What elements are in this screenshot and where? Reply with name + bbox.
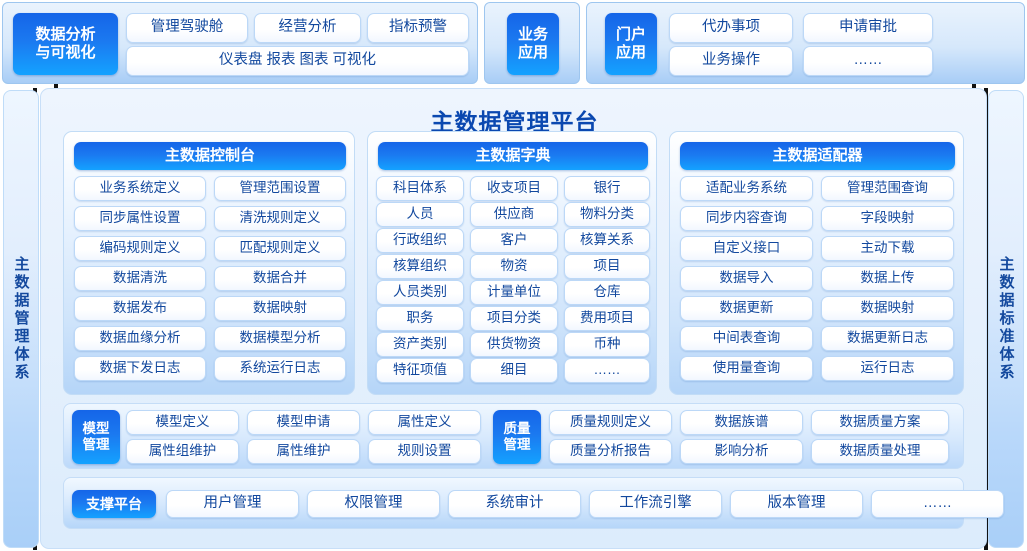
dict-item-bank[interactable]: 银行 xyxy=(564,176,650,201)
model-item-attribute-maintenance[interactable]: 属性维护 xyxy=(247,439,360,464)
adapter-item-data-update-log[interactable]: 数据更新日志 xyxy=(821,326,954,351)
top-button-pending-items[interactable]: 代办事项 xyxy=(669,13,793,43)
adapter-item-custom-interface[interactable]: 自定义接口 xyxy=(680,236,813,261)
console-item-data-cleansing[interactable]: 数据清洗 xyxy=(74,266,206,291)
top-button-more[interactable]: …… xyxy=(803,46,933,76)
console-item-coding-rule-definition[interactable]: 编码规则定义 xyxy=(74,236,206,261)
adapter-item-operation-log[interactable]: 运行日志 xyxy=(821,356,954,381)
support-item-more[interactable]: …… xyxy=(871,490,1004,518)
dict-item-admin-organization[interactable]: 行政组织 xyxy=(376,228,464,253)
dict-item-expense-item[interactable]: 费用项目 xyxy=(564,306,650,331)
architecture-diagram: 数据分析 与可视化 管理驾驶舱 经营分析 指标预警 仪表盘 报表 图表 可视化 … xyxy=(0,0,1027,551)
adapter-item-management-scope-query[interactable]: 管理范围查询 xyxy=(821,176,954,201)
dict-item-supply-material[interactable]: 供货物资 xyxy=(470,332,558,357)
dict-item-accounting-organization[interactable]: 核算组织 xyxy=(376,254,464,279)
dict-item-more[interactable]: …… xyxy=(564,358,650,383)
support-item-version-management[interactable]: 版本管理 xyxy=(730,490,863,518)
support-platform-row: 支撑平台 用户管理 权限管理 系统审计 工作流引擎 版本管理 …… xyxy=(63,477,964,529)
adapter-item-data-import[interactable]: 数据导入 xyxy=(680,266,813,291)
top-button-business-operation[interactable]: 业务操作 xyxy=(669,46,793,76)
panel-master-data-adapter: 主数据适配器 适配业务系统 同步内容查询 自定义接口 数据导入 数据更新 中间表… xyxy=(669,131,964,395)
adapter-item-data-update[interactable]: 数据更新 xyxy=(680,296,813,321)
console-item-management-scope-setting[interactable]: 管理范围设置 xyxy=(214,176,346,201)
panel-master-data-console: 主数据控制台 业务系统定义 同步属性设置 编码规则定义 数据清洗 数据发布 数据… xyxy=(63,131,355,395)
master-data-platform-frame: 主数据管理平台 主数据控制台 业务系统定义 同步属性设置 编码规则定义 数据清洗… xyxy=(40,88,987,549)
console-item-matching-rule-definition[interactable]: 匹配规则定义 xyxy=(214,236,346,261)
top-button-management-cockpit[interactable]: 管理驾驶舱 xyxy=(126,13,248,43)
group-label-quality-management: 质量 管理 xyxy=(493,410,541,464)
dict-item-supplier[interactable]: 供应商 xyxy=(470,202,558,227)
dict-item-currency[interactable]: 币种 xyxy=(564,332,650,357)
dict-item-feature-value[interactable]: 特征项值 xyxy=(376,358,464,383)
sidebar-left-label: 主数据管理体系 xyxy=(14,256,29,382)
dict-item-position[interactable]: 职务 xyxy=(376,306,464,331)
console-item-business-system-definition[interactable]: 业务系统定义 xyxy=(74,176,206,201)
console-item-data-distribution-log[interactable]: 数据下发日志 xyxy=(74,356,206,381)
console-item-data-publish[interactable]: 数据发布 xyxy=(74,296,206,321)
console-item-cleansing-rule-definition[interactable]: 清洗规则定义 xyxy=(214,206,346,231)
dict-item-material[interactable]: 物资 xyxy=(470,254,558,279)
adapter-item-usage-query[interactable]: 使用量查询 xyxy=(680,356,813,381)
top-group-portal-application: 门户 应用 代办事项 申请审批 业务操作 …… xyxy=(586,2,1025,84)
top-group-label-portal-application: 门户 应用 xyxy=(605,13,657,75)
adapter-item-intermediate-table-query[interactable]: 中间表查询 xyxy=(680,326,813,351)
quality-item-quality-analysis-report[interactable]: 质量分析报告 xyxy=(549,439,672,464)
adapter-item-adapt-business-system[interactable]: 适配业务系统 xyxy=(680,176,813,201)
model-item-rule-setting[interactable]: 规则设置 xyxy=(368,439,481,464)
dict-item-measurement-unit[interactable]: 计量单位 xyxy=(470,280,558,305)
support-item-workflow-engine[interactable]: 工作流引擎 xyxy=(589,490,722,518)
dict-item-personnel-category[interactable]: 人员类别 xyxy=(376,280,464,305)
support-item-user-management[interactable]: 用户管理 xyxy=(166,490,299,518)
sidebar-right-label: 主数据标准体系 xyxy=(999,256,1014,382)
adapter-item-active-download[interactable]: 主动下载 xyxy=(821,236,954,261)
dict-item-project-category[interactable]: 项目分类 xyxy=(470,306,558,331)
console-item-data-merge[interactable]: 数据合并 xyxy=(214,266,346,291)
console-item-data-model-analysis[interactable]: 数据模型分析 xyxy=(214,326,346,351)
console-item-data-mapping[interactable]: 数据映射 xyxy=(214,296,346,321)
dict-item-project[interactable]: 项目 xyxy=(564,254,650,279)
dict-item-detail-item[interactable]: 细目 xyxy=(470,358,558,383)
quality-item-data-quality-processing[interactable]: 数据质量处理 xyxy=(811,439,949,464)
dict-item-accounting-relation[interactable]: 核算关系 xyxy=(564,228,650,253)
top-button-business-analysis[interactable]: 经营分析 xyxy=(254,13,361,43)
model-item-attribute-group-maintenance[interactable]: 属性组维护 xyxy=(126,439,239,464)
adapter-item-field-mapping[interactable]: 字段映射 xyxy=(821,206,954,231)
panel-header-console: 主数据控制台 xyxy=(74,142,346,170)
quality-item-quality-rule-definition[interactable]: 质量规则定义 xyxy=(549,410,672,435)
dict-item-warehouse[interactable]: 仓库 xyxy=(564,280,650,305)
model-and-quality-row: 模型 管理 模型定义 模型申请 属性定义 属性组维护 属性维护 规则设置 质量 … xyxy=(63,403,964,469)
adapter-item-sync-content-query[interactable]: 同步内容查询 xyxy=(680,206,813,231)
sidebar-master-data-standard-system: 主数据标准体系 xyxy=(988,90,1024,548)
top-button-application-approval[interactable]: 申请审批 xyxy=(803,13,933,43)
adapter-item-data-upload[interactable]: 数据上传 xyxy=(821,266,954,291)
model-item-model-application[interactable]: 模型申请 xyxy=(247,410,360,435)
group-label-model-management: 模型 管理 xyxy=(72,410,120,464)
model-item-attribute-definition[interactable]: 属性定义 xyxy=(368,410,481,435)
sidebar-master-data-management-system: 主数据管理体系 xyxy=(3,90,39,548)
group-label-support-platform: 支撑平台 xyxy=(72,490,156,518)
panel-header-adapter: 主数据适配器 xyxy=(680,142,955,170)
dict-item-income-expense-item[interactable]: 收支项目 xyxy=(470,176,558,201)
panel-master-data-dictionary: 主数据字典 科目体系 人员 行政组织 核算组织 人员类别 职务 资产类别 特征项… xyxy=(367,131,657,395)
console-item-sync-attribute-setting[interactable]: 同步属性设置 xyxy=(74,206,206,231)
console-item-data-lineage-analysis[interactable]: 数据血缘分析 xyxy=(74,326,206,351)
top-button-dashboard-report-chart-visualization[interactable]: 仪表盘 报表 图表 可视化 xyxy=(126,46,469,76)
dict-item-personnel[interactable]: 人员 xyxy=(376,202,464,227)
top-group-label-business-application: 业务 应用 xyxy=(507,13,559,75)
support-item-permission-management[interactable]: 权限管理 xyxy=(307,490,440,518)
dict-item-customer[interactable]: 客户 xyxy=(470,228,558,253)
console-item-system-operation-log[interactable]: 系统运行日志 xyxy=(214,356,346,381)
quality-item-data-quality-plan[interactable]: 数据质量方案 xyxy=(811,410,949,435)
quality-item-impact-analysis[interactable]: 影响分析 xyxy=(680,439,803,464)
dict-item-account-system[interactable]: 科目体系 xyxy=(376,176,464,201)
dict-item-material-category[interactable]: 物料分类 xyxy=(564,202,650,227)
support-item-system-audit[interactable]: 系统审计 xyxy=(448,490,581,518)
dict-item-asset-category[interactable]: 资产类别 xyxy=(376,332,464,357)
top-group-business-application: 业务 应用 xyxy=(484,2,580,84)
top-button-indicator-alert[interactable]: 指标预警 xyxy=(367,13,469,43)
quality-item-data-genealogy[interactable]: 数据族谱 xyxy=(680,410,803,435)
panel-header-dictionary: 主数据字典 xyxy=(378,142,648,170)
top-group-data-analysis: 数据分析 与可视化 管理驾驶舱 经营分析 指标预警 仪表盘 报表 图表 可视化 xyxy=(2,2,478,84)
top-group-label-data-analysis: 数据分析 与可视化 xyxy=(13,13,118,75)
model-item-model-definition[interactable]: 模型定义 xyxy=(126,410,239,435)
adapter-item-data-mapping[interactable]: 数据映射 xyxy=(821,296,954,321)
